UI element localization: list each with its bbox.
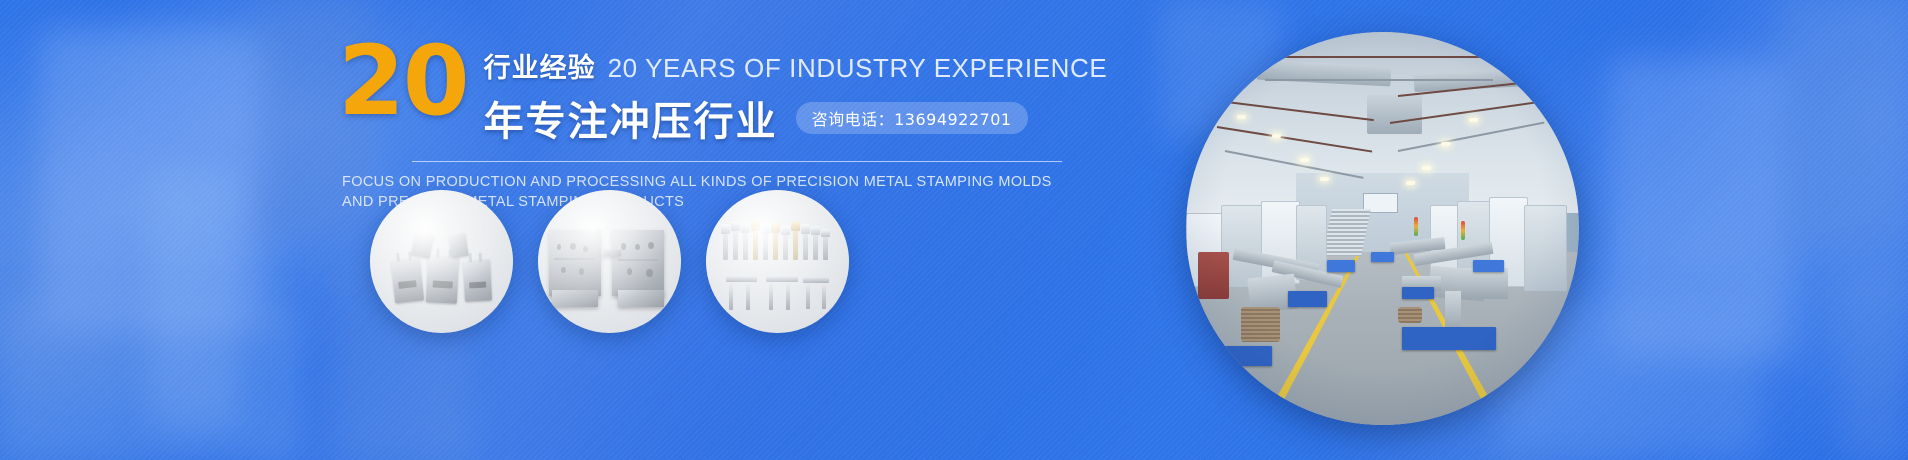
cn-headline-text: 年专注冲压行业 (484, 89, 778, 147)
stamping-mold-image (538, 190, 681, 333)
factory-workshop-photo[interactable] (1186, 32, 1579, 425)
product-circle-terminals[interactable] (706, 190, 849, 333)
headline-line-2: 年专注冲压行业 咨询电话：13694922701 (484, 89, 1108, 147)
connector-parts-image (370, 190, 513, 333)
headline-line-1: 行业经验 20 YEARS OF INDUSTRY EXPERIENCE (484, 46, 1108, 85)
en-headline-text: 20 YEARS OF INDUSTRY EXPERIENCE (608, 53, 1108, 84)
phone-badge[interactable]: 咨询电话：13694922701 (796, 102, 1028, 134)
headline-divider (412, 161, 1062, 162)
years-number: 20 (338, 42, 468, 121)
cn-subtitle-text: 行业经验 (484, 46, 596, 85)
terminal-pins-image (706, 190, 849, 333)
headline-block: 20 行业经验 20 YEARS OF INDUSTRY EXPERIENCE … (338, 38, 1098, 212)
product-circle-molds[interactable] (538, 190, 681, 333)
product-circle-connectors[interactable] (370, 190, 513, 333)
headline-row: 20 行业经验 20 YEARS OF INDUSTRY EXPERIENCE … (338, 38, 1098, 147)
promo-banner: 20 行业经验 20 YEARS OF INDUSTRY EXPERIENCE … (0, 0, 1908, 460)
